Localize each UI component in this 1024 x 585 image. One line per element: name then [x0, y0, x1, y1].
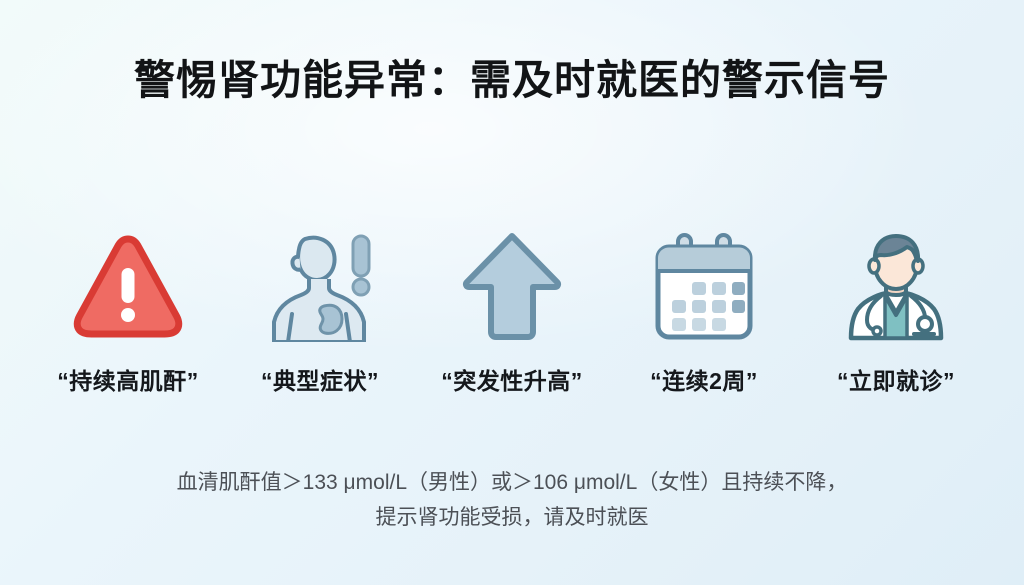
warning-signs-row: “持续高肌酐” — [32, 222, 992, 396]
sign-label: “持续高肌酐” — [57, 362, 199, 396]
sign-item-two-weeks-continuous[interactable]: “连续2周” — [608, 222, 800, 396]
sign-label: “连续2周” — [650, 362, 758, 396]
caption-line-2: 提示肾功能受损，请及时就医 — [0, 501, 1024, 536]
sign-item-see-doctor-now[interactable]: “立即就诊” — [800, 222, 992, 396]
warning-triangle-icon — [68, 222, 188, 342]
sign-item-persistent-high-creatinine[interactable]: “持续高肌酐” — [32, 222, 224, 396]
sign-label: “立即就诊” — [837, 362, 955, 396]
slide-canvas: 警惕肾功能异常：需及时就医的警示信号 “持续高肌酐” — [0, 0, 1024, 585]
calendar-icon — [644, 222, 764, 342]
caption-line-1: 血清肌酐值＞133 μmol/L（男性）或＞106 μmol/L（女性）且持续不… — [0, 466, 1024, 501]
sign-label: “典型症状” — [261, 362, 379, 396]
page-title: 警惕肾功能异常：需及时就医的警示信号 — [0, 55, 1024, 106]
sign-item-typical-symptoms[interactable]: “典型症状” — [224, 222, 416, 396]
sign-label: “突发性升高” — [441, 362, 583, 396]
sign-item-sudden-rise[interactable]: “突发性升高” — [416, 222, 608, 396]
person-kidney-symptom-icon — [260, 222, 380, 342]
caption-block: 血清肌酐值＞133 μmol/L（男性）或＞106 μmol/L（女性）且持续不… — [0, 466, 1024, 535]
up-arrow-icon — [452, 222, 572, 342]
doctor-icon — [836, 222, 956, 342]
